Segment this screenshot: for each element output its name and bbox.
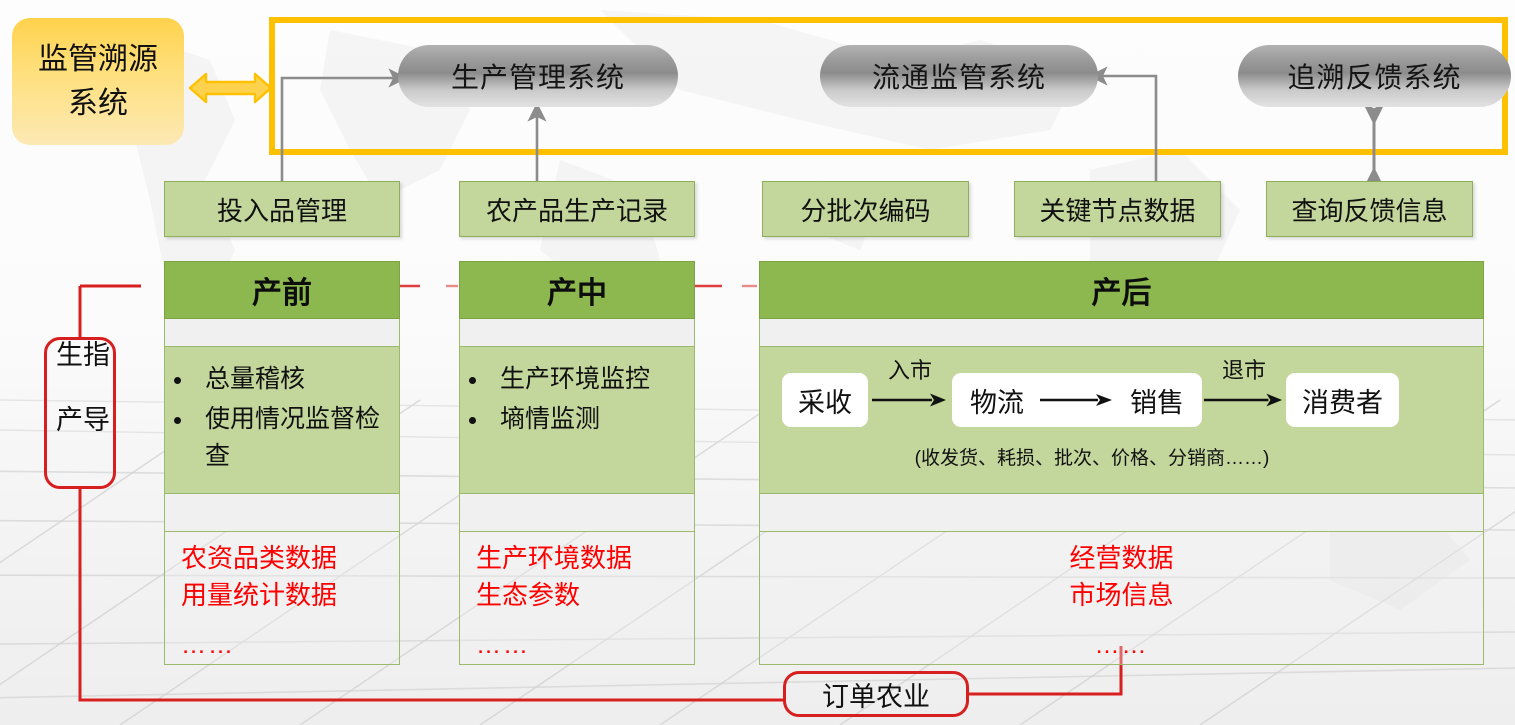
chain-node-logistics-sales[interactable]: 物流 销售 — [952, 373, 1202, 427]
root-node-traceability-system[interactable]: 监管溯源 系统 — [12, 18, 184, 145]
module-key-node-data[interactable]: 关键节点数据 — [1014, 181, 1221, 237]
chain-node-logistics-label: 物流 — [970, 381, 1024, 420]
supply-chain-flow: 采收 入市 物流 销售 — [760, 347, 1483, 493]
chain-arrow-enter-market: 入市 — [868, 373, 952, 427]
stage-body-pre-production: 总量稽核 使用情况监督检查 — [164, 346, 400, 494]
chain-node-harvest[interactable]: 采收 — [782, 373, 868, 427]
stage-spacer — [164, 319, 400, 346]
stage-bullet-list: 生产环境监控 墒情监测 — [460, 347, 694, 438]
supply-chain-row: 采收 入市 物流 销售 — [782, 373, 1399, 427]
stage-bullet-list: 总量稽核 使用情况监督检查 — [165, 347, 399, 476]
root-label-line1: 监管溯源 — [38, 38, 158, 82]
system-traceability-feedback[interactable]: 追溯反馈系统 — [1238, 45, 1511, 107]
list-item: 生产环境监控 — [490, 361, 688, 399]
chain-arrow-label-enter-market: 入市 — [888, 353, 932, 385]
stage-arrow-gap — [459, 494, 695, 531]
module-batch-coding[interactable]: 分批次编码 — [762, 181, 969, 237]
stage-panel-in-production: 产中 生产环境监控 墒情监测 生产环境数据 生态参数 …… — [459, 261, 695, 646]
chain-arrow-label-exit-market: 退市 — [1222, 353, 1266, 385]
stage-panel-post-production: 产后 采收 入市 物流 — [759, 261, 1484, 646]
yellow-double-arrow — [190, 74, 271, 102]
stage-arrow-gap — [164, 494, 400, 531]
stage-body-in-production: 生产环境监控 墒情监测 — [459, 346, 695, 494]
wire-keynode-to-circulation — [1098, 76, 1156, 181]
diagram-canvas: 监管溯源 系统 生产管理系统 流通监管系统 追溯反馈系统 投入品管理 农产品生产… — [0, 0, 1515, 725]
data-line: 市场信息 — [760, 577, 1483, 614]
list-item: 使用情况监督检查 — [195, 401, 393, 476]
stage-spacer — [459, 319, 695, 346]
list-item: 墒情监测 — [490, 401, 688, 439]
node-order-agriculture[interactable]: 订单农业 — [783, 671, 969, 717]
stage-spacer — [759, 319, 1484, 346]
data-line: 生态参数 — [476, 577, 694, 614]
arrow-right-icon — [870, 390, 950, 410]
node-guide-production[interactable]: 指 导 生 产 — [44, 337, 116, 489]
stage-header-in-production: 产中 — [459, 261, 695, 319]
stage-header-post-production: 产后 — [759, 261, 1484, 319]
stage-header-pre-production: 产前 — [164, 261, 400, 319]
module-input-goods-management[interactable]: 投入品管理 — [164, 181, 400, 237]
list-item: 总量稽核 — [195, 361, 393, 399]
stage-body-post-production: 采收 入市 物流 销售 — [759, 346, 1484, 494]
stage-arrow-gap — [759, 494, 1484, 531]
wire-input-to-production — [282, 78, 398, 181]
data-line: 生产环境数据 — [476, 540, 694, 577]
stage-panel-pre-production: 产前 总量稽核 使用情况监督检查 农资品类数据 用量统计数据 …… — [164, 261, 400, 646]
chain-node-sales-label: 销售 — [1130, 381, 1184, 420]
supply-chain-note: (收发货、耗损、批次、价格、分销商……) — [782, 443, 1402, 470]
data-ellipsis: …… — [476, 628, 694, 664]
module-query-feedback-info[interactable]: 查询反馈信息 — [1266, 181, 1473, 237]
data-line: 农资品类数据 — [181, 540, 399, 577]
data-line: 经营数据 — [760, 540, 1483, 577]
arrow-right-icon — [1038, 391, 1116, 409]
data-ellipsis: …… — [181, 628, 399, 664]
module-agri-production-record[interactable]: 农产品生产记录 — [459, 181, 695, 237]
chain-arrow-exit-market: 退市 — [1202, 373, 1286, 427]
system-production-management[interactable]: 生产管理系统 — [398, 45, 678, 107]
stage-data-post-production: 经营数据 市场信息 …… — [759, 531, 1484, 665]
data-ellipsis: …… — [760, 628, 1483, 664]
chain-node-consumer[interactable]: 消费者 — [1286, 373, 1399, 427]
root-label-line2: 系统 — [68, 82, 128, 126]
arrow-right-icon — [1202, 390, 1286, 410]
system-circulation-supervision[interactable]: 流通监管系统 — [820, 45, 1098, 107]
stage-data-in-production: 生产环境数据 生态参数 …… — [459, 531, 695, 665]
stage-data-pre-production: 农资品类数据 用量统计数据 …… — [164, 531, 400, 665]
data-line: 用量统计数据 — [181, 577, 399, 614]
